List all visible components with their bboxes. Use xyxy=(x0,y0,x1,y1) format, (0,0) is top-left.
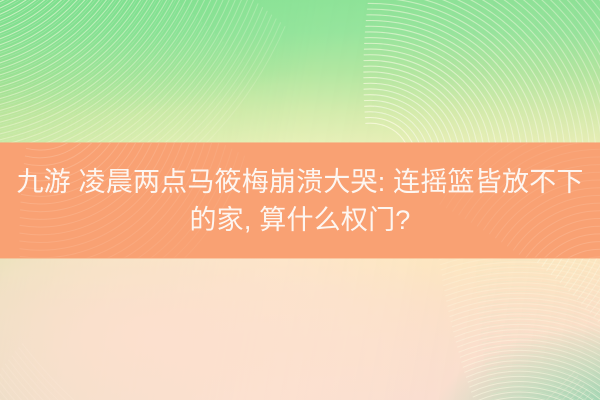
banner: 九游 凌晨两点马筱梅崩溃大哭: 连摇篮皆放不下的家, 算什么权门? xyxy=(0,0,600,400)
decorative-arcs-bottom-right xyxy=(330,250,600,400)
banner-title: 九游 凌晨两点马筱梅崩溃大哭: 连摇篮皆放不下的家, 算什么权门? xyxy=(0,163,600,239)
title-band: 九游 凌晨两点马筱梅崩溃大哭: 连摇篮皆放不下的家, 算什么权门? xyxy=(0,143,600,258)
